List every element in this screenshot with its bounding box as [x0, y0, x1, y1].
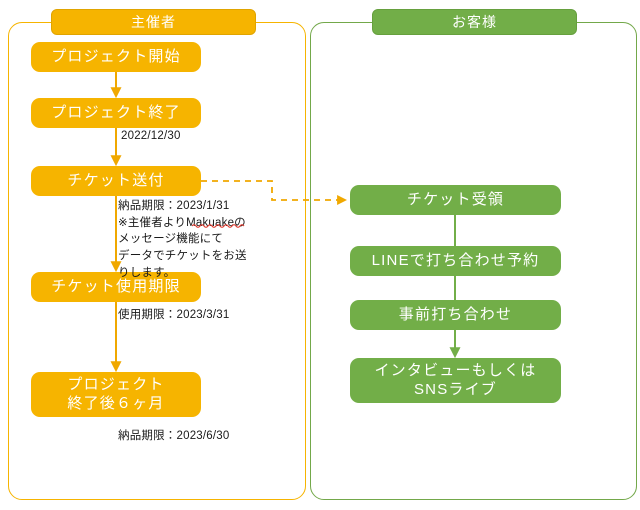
node-interview-or-sns-live[interactable]: インタビューもしくは SNSライブ [350, 358, 561, 403]
note-usage-period: 使用期限：2023/3/31 [118, 307, 229, 324]
node-ticket-send[interactable]: チケット送付 [31, 166, 201, 196]
note-project-end-date: 2022/12/30 [121, 128, 181, 145]
node-ticket-receive[interactable]: チケット受領 [350, 185, 561, 215]
node-line-booking[interactable]: LINEで打ち合わせ予約 [350, 246, 561, 276]
node-six-months-after-project[interactable]: プロジェクト 終了後６ヶ月 [31, 372, 201, 417]
note-delivery-deadline: 納品期限：2023/1/31 ※主催者よりMakuakeの メッセージ機能にて … [118, 198, 247, 281]
diagram-canvas: 主催者 お客様 プロジェクト開始 プロジェクト終了 チケット送付 チケット使用期… [0, 0, 640, 510]
node-project-end[interactable]: プロジェクト終了 [31, 98, 201, 128]
node-pre-meeting[interactable]: 事前打ち合わせ [350, 300, 561, 330]
node-project-start[interactable]: プロジェクト開始 [31, 42, 201, 72]
note-final-deadline: 納品期限：2023/6/30 [118, 428, 229, 445]
lane-header-organizer: 主催者 [51, 9, 256, 35]
lane-header-customer: お客様 [372, 9, 577, 35]
